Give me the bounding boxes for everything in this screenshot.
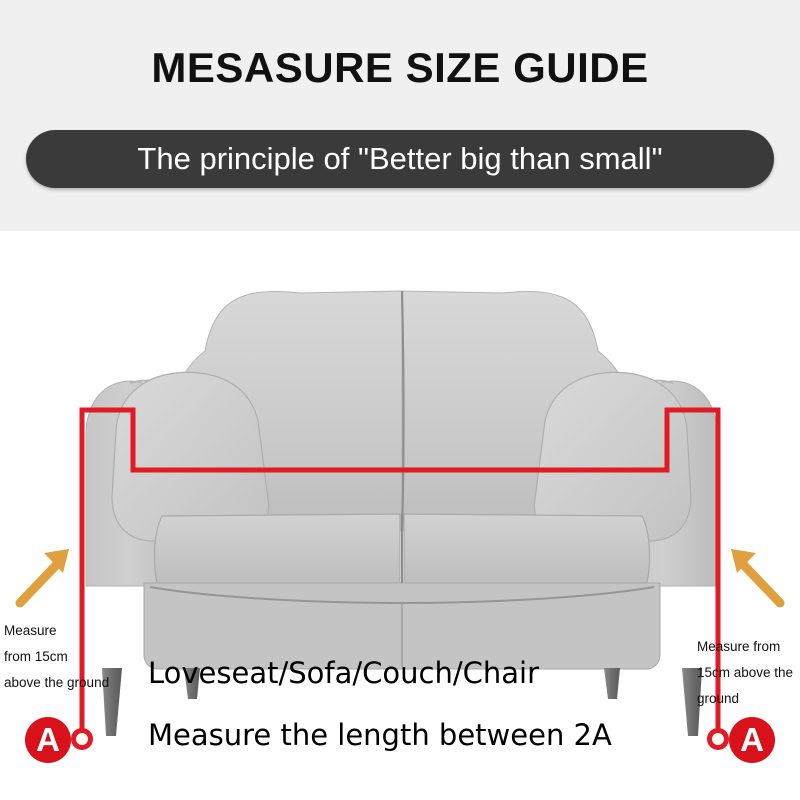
measurement-marker-a-left: A xyxy=(25,717,71,763)
measure-size-guide-page: MESASURE SIZE GUIDE The principle of "Be… xyxy=(0,0,800,800)
measurement-marker-a-right: A xyxy=(729,717,775,763)
subtitle-pill: The principle of "Better big than small" xyxy=(26,130,774,188)
caption-left-line3: above the ground xyxy=(4,670,144,696)
header-band: MESASURE SIZE GUIDE The principle of "Be… xyxy=(0,0,800,231)
caption-left-line1: Measure xyxy=(4,618,144,644)
caption-left-line2: from 15cm xyxy=(4,644,144,670)
product-type-label: Loveseat/Sofa/Couch/Chair xyxy=(148,656,539,690)
measure-instruction-label: Measure the length between 2A xyxy=(148,718,612,752)
caption-right: Measure from 15cm above the ground xyxy=(697,634,800,712)
caption-right-line1: Measure from xyxy=(697,634,800,660)
pointer-arrow-right xyxy=(731,549,780,603)
caption-right-line3: ground xyxy=(697,686,800,712)
caption-left: Measure from 15cm above the ground xyxy=(4,618,144,696)
caption-right-line2: 15cm above the xyxy=(697,660,800,686)
sofa-diagram-stage: A A xyxy=(0,231,800,800)
page-title: MESASURE SIZE GUIDE xyxy=(0,44,800,92)
subtitle-text: The principle of "Better big than small" xyxy=(26,130,774,188)
pointer-arrow-left xyxy=(20,549,69,603)
sofa-illustration xyxy=(0,231,800,800)
